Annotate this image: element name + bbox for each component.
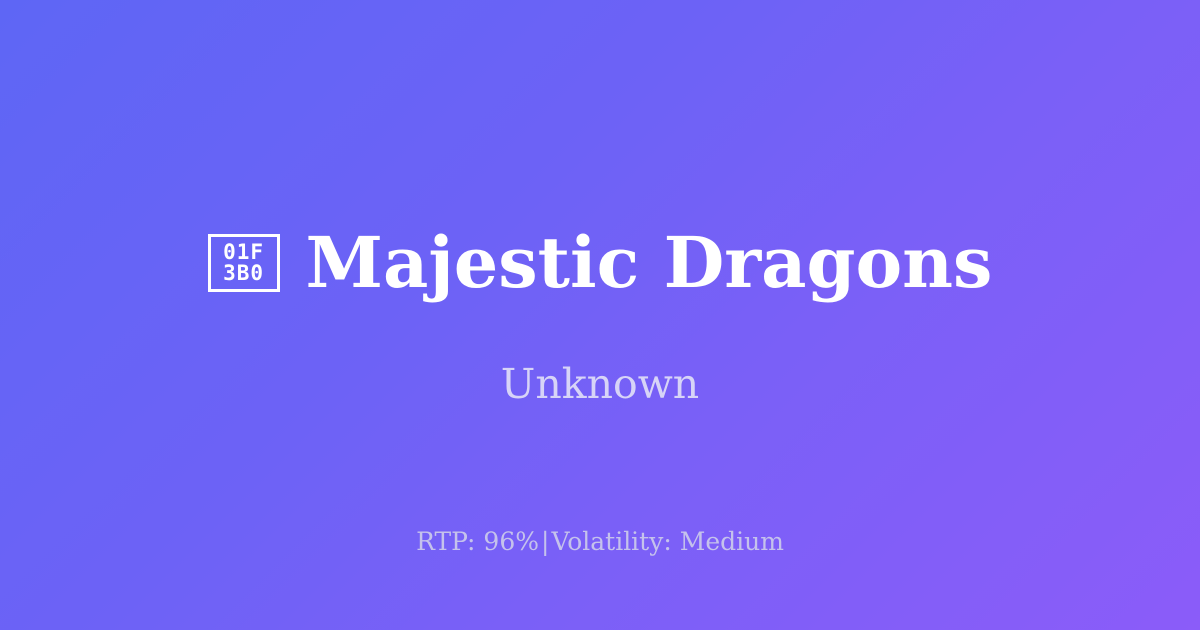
page-title: Majestic Dragons xyxy=(306,228,993,298)
rtp-stat: RTP: 96% xyxy=(416,527,539,556)
stats-separator: | xyxy=(539,527,551,556)
slot-machine-emoji-codepoint-low: 3B0 xyxy=(223,263,264,284)
volatility-stat: Volatility: Medium xyxy=(551,527,783,556)
game-og-card: 01F 3B0 Majestic Dragons Unknown RTP: 96… xyxy=(0,0,1200,630)
game-stats-line: RTP: 96%|Volatility: Medium xyxy=(0,528,1200,556)
slot-machine-emoji-icon: 01F 3B0 xyxy=(208,234,280,292)
slot-machine-emoji-codepoint-high: 01F xyxy=(223,242,264,263)
game-provider-subtitle: Unknown xyxy=(0,362,1200,407)
title-row: 01F 3B0 Majestic Dragons xyxy=(0,228,1200,298)
